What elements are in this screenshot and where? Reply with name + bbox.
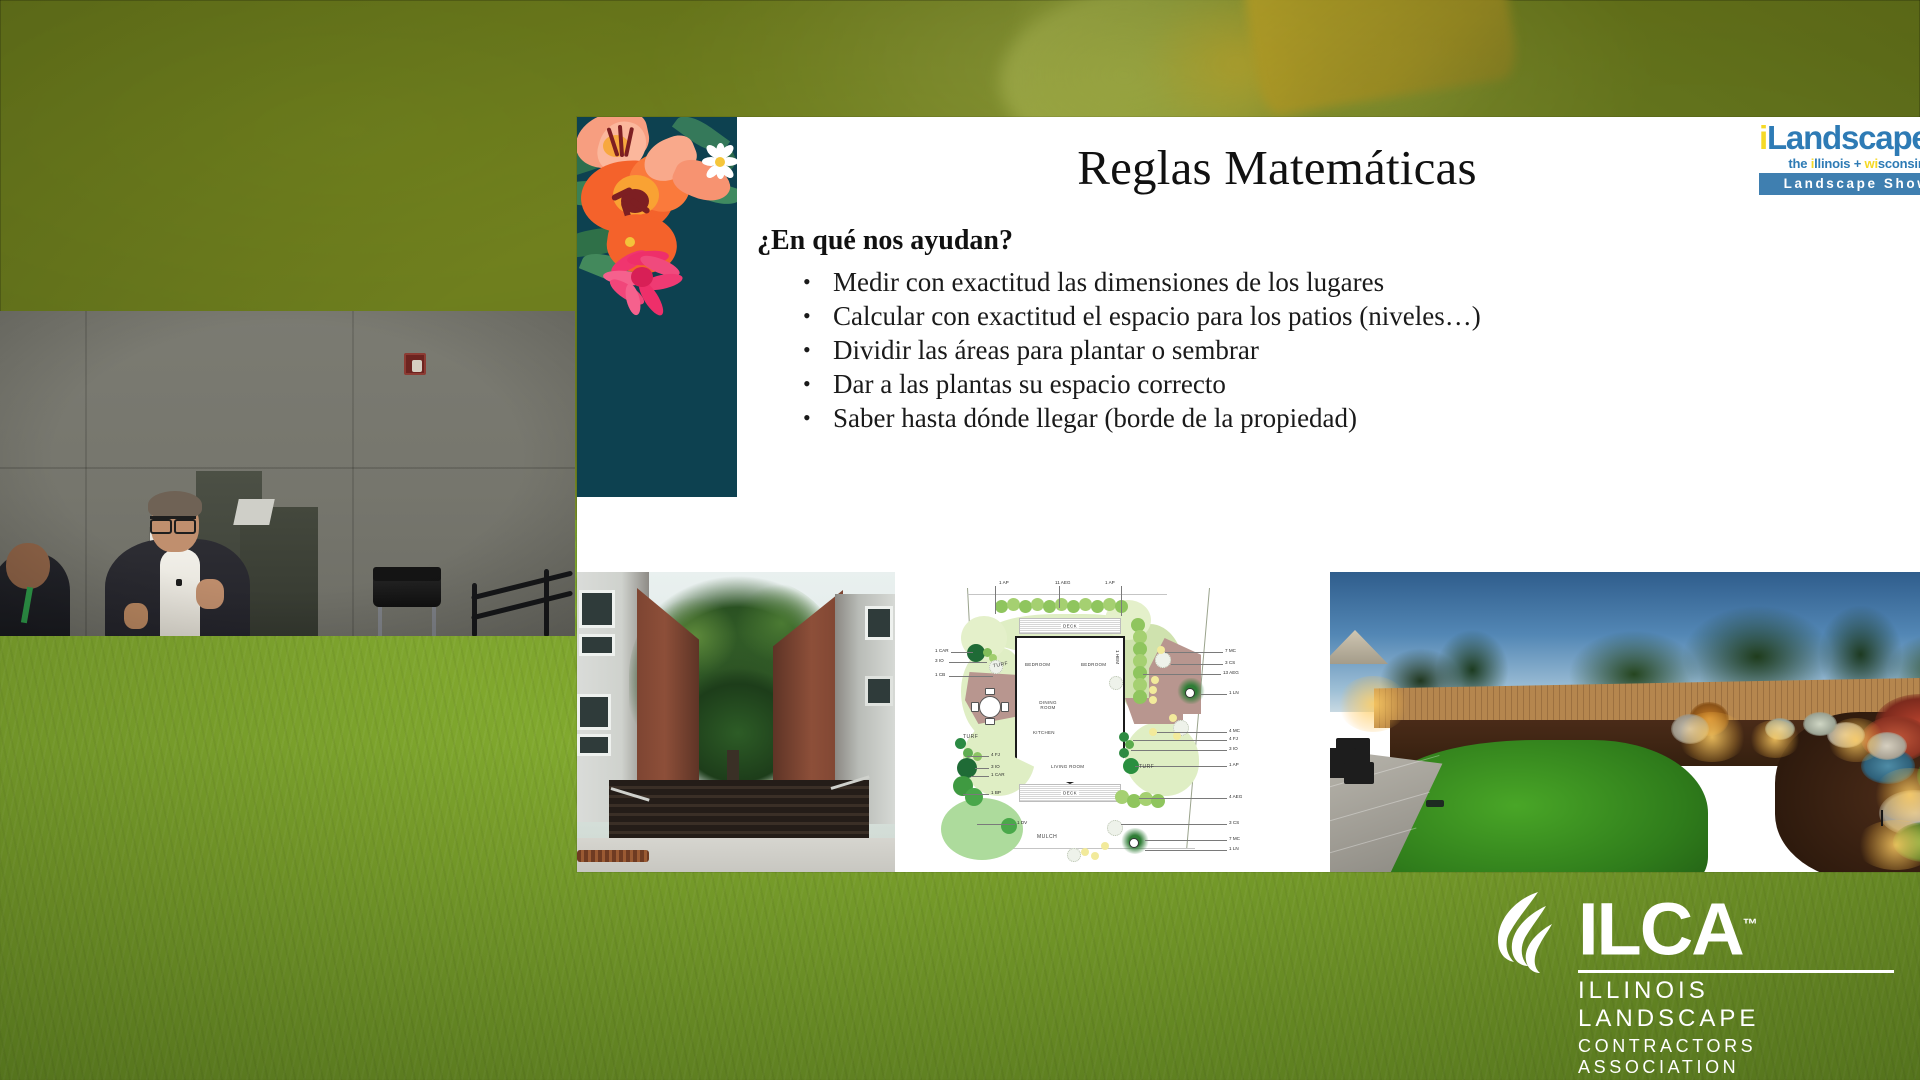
list-item: Dar a las plantas su espacio correcto [795,369,1795,400]
window [577,694,611,730]
deck-label: DECK [1061,624,1079,629]
perennial [1081,848,1089,856]
photo-gap [895,572,933,872]
plant-label: 1 DV [1017,820,1027,825]
ilca-logo: ILCA™ ILLINOIS LANDSCAPE CONTRACTORS ASS… [1494,890,1894,1078]
deck-area: DECK [1019,784,1121,802]
floral-sidebar [577,117,737,497]
leader-line [977,824,1015,825]
staircase [609,780,869,842]
mulch-bed [577,850,649,862]
list-item: Dividir las áreas para plantar o sembrar [795,335,1795,366]
video-vignette [0,311,575,636]
plan-canvas: BEDROOM BEDROOM DINING ROOM KITCHEN LIVI… [933,572,1278,872]
plant-label: 4 MC [1229,728,1240,733]
plant-label: 1 LN [1229,846,1239,851]
shrub [1079,598,1092,611]
turf-callout: TURF [963,734,978,740]
shrub [995,600,1008,613]
leader-line [951,652,973,653]
leader-line [1131,750,1227,751]
room-label: BEDROOM [1025,662,1050,667]
perennial [1149,686,1157,694]
landscape-light-glow [1749,720,1801,758]
patio-table [979,696,1001,718]
leader-line [1171,664,1223,665]
landscape-light-glow [1677,712,1747,762]
tree [965,788,983,806]
leader-line [1201,694,1227,695]
leader-line [1157,732,1227,733]
plant-label: 1 BP [991,790,1001,795]
tagline-wi: wi [1865,156,1878,171]
room-label: KITCHEN [1033,730,1055,735]
plant-label: 3 IO [1229,746,1238,751]
evergreen [957,758,977,778]
perennial [1149,728,1157,736]
photo-landscape-plan: BEDROOM BEDROOM DINING ROOM KITCHEN LIVI… [933,572,1278,872]
tagline-llinois: llinois [1814,156,1850,171]
window [865,676,893,706]
slide-title: Reglas Matemáticas [757,139,1797,196]
tagline-the: the [1788,156,1810,171]
plant-label: 1 CAR [935,648,949,653]
shrub [1103,598,1116,611]
plant-label: 1 AP [1105,580,1115,585]
slide-subtitle: ¿En qué nos ayudan? [757,225,1013,257]
plant-label: 4 AEG [1229,794,1242,799]
list-item: Medir con exactitud las dimensiones de l… [795,267,1795,298]
ilandscape-landscape: Landscape [1767,119,1920,156]
ilca-line-1: ILLINOIS LANDSCAPE [1578,977,1894,1033]
leader-line [1121,824,1227,825]
slide-photo-strip: BEDROOM BEDROOM DINING ROOM KITCHEN LIVI… [577,572,1920,872]
leader-line [1059,586,1060,608]
plant-label: 3 CS [1225,660,1235,665]
perennial [1149,696,1157,704]
ilandscape-logo: iLandscape™ the illinois + wisconsin Lan… [1759,117,1920,195]
plant-label: 1 LN [1229,690,1239,695]
daisy-icon [703,145,737,179]
ilca-acronym: ILCA™ [1578,890,1894,965]
bud-icon [625,237,635,247]
shrub [1019,600,1032,613]
photo-tree-staircase [577,572,895,872]
window [579,634,615,656]
shrub [1133,690,1147,704]
shrub [1055,598,1068,611]
room-label: DINING ROOM [1031,700,1065,710]
path-light-icon [1881,810,1883,826]
plant-label: 1 HEM [1115,650,1120,664]
leader-line [1145,850,1227,851]
window [865,606,893,640]
perennial [1173,732,1181,740]
tree [1001,818,1017,834]
leader-line [949,676,993,677]
room-label: BEDROOM [1081,662,1106,667]
patio-chair [985,718,995,725]
list-item: Calcular con exactitud el espacio para l… [795,301,1795,332]
perennial [1169,714,1177,722]
patio-chair [1001,702,1009,712]
presenter-video-overlay[interactable]: dscape [0,311,575,636]
patio-chair [971,702,979,712]
patio-table [1344,762,1374,784]
screenshot-stage: dscape [0,0,1920,1080]
window [579,590,615,628]
presentation-slide: Reglas Matemáticas ¿En qué nos ayudan? M… [577,117,1920,872]
shrub [1067,600,1080,613]
tree-center [1129,838,1139,848]
window [577,734,611,756]
leader-line [1143,674,1221,675]
property-line [1186,588,1210,849]
leader-line [1133,740,1227,741]
mulch-callout: MULCH [1037,834,1057,840]
drain-grate-icon [1426,800,1444,807]
turf-callout: TURF [1139,764,1154,770]
landscape-light-glow [1827,718,1885,762]
perennial [1091,852,1099,860]
leader-line [1121,586,1122,616]
house-footprint [1015,636,1125,784]
ilandscape-tagline: the illinois + wisconsin [1759,156,1920,171]
plant-label: 11 AEG [1055,580,1071,585]
trademark-icon: ™ [1743,916,1758,933]
tagline-sconsin: sconsin [1878,156,1920,171]
ilca-line-2: CONTRACTORS ASSOCIATION [1578,1036,1894,1078]
list-item: Saber hasta dónde llegar (borde de la pr… [795,403,1795,434]
leader-line [963,794,989,795]
plant-label: 1 CAR [991,772,1005,777]
leaf-icon [1494,890,1568,976]
plant-label: 1 AP [999,580,1009,585]
shrub [1119,748,1129,758]
leader-line [1145,840,1227,841]
shrub [1007,598,1020,611]
photo-gap [1278,572,1330,872]
shrub [1031,598,1044,611]
slide-bullet-list: Medir con exactitud las dimensiones de l… [795,267,1795,437]
shrub [1067,848,1081,862]
plant-label: 1 CB [935,672,945,677]
room-label: LIVING ROOM [1051,764,1084,769]
property-line [967,594,1167,595]
plant-label: 7 MC [1225,648,1236,653]
plant-label: 4 FJ [991,752,1000,757]
plant-label: 3 CS [1229,820,1239,825]
ilandscape-show-bar: Landscape Show [1759,173,1920,195]
perennial [1157,646,1165,654]
deck-label: DECK [1061,791,1079,796]
leader-line [975,768,989,769]
plant-label: 4 FJ [1229,736,1238,741]
shrub [1109,676,1123,690]
leader-line [995,586,996,614]
perennial [1101,842,1109,850]
photo-backyard-dusk [1330,572,1920,872]
landscape-light-glow [1338,676,1408,732]
shrub [1155,652,1171,668]
ilandscape-wordmark: iLandscape™ [1759,117,1920,155]
leader-line [971,776,989,777]
plant-label: 3 IO [935,658,944,663]
leader-line [1165,652,1223,653]
leader-line [1139,798,1227,799]
shrub [1091,600,1104,613]
zinnia-icon [601,249,687,315]
shrub [1043,600,1056,613]
plant-label: 3 IO [991,764,1000,769]
leader-line [967,756,989,757]
deck-area: DECK [1019,618,1121,634]
shrub [1107,820,1123,836]
tree-center [1185,688,1195,698]
tagline-plus: + [1850,156,1864,171]
plant-label: 1 AP [1229,762,1239,767]
perennial [1151,676,1159,684]
shrub [1151,794,1165,808]
plant-label: 13 AEG [1223,670,1239,675]
plant-label: 7 MC [1229,836,1240,841]
ilandscape-i: i [1759,119,1767,156]
patio-chair [985,688,995,695]
leader-line [949,662,987,663]
ilca-acronym-text: ILCA [1578,888,1743,971]
